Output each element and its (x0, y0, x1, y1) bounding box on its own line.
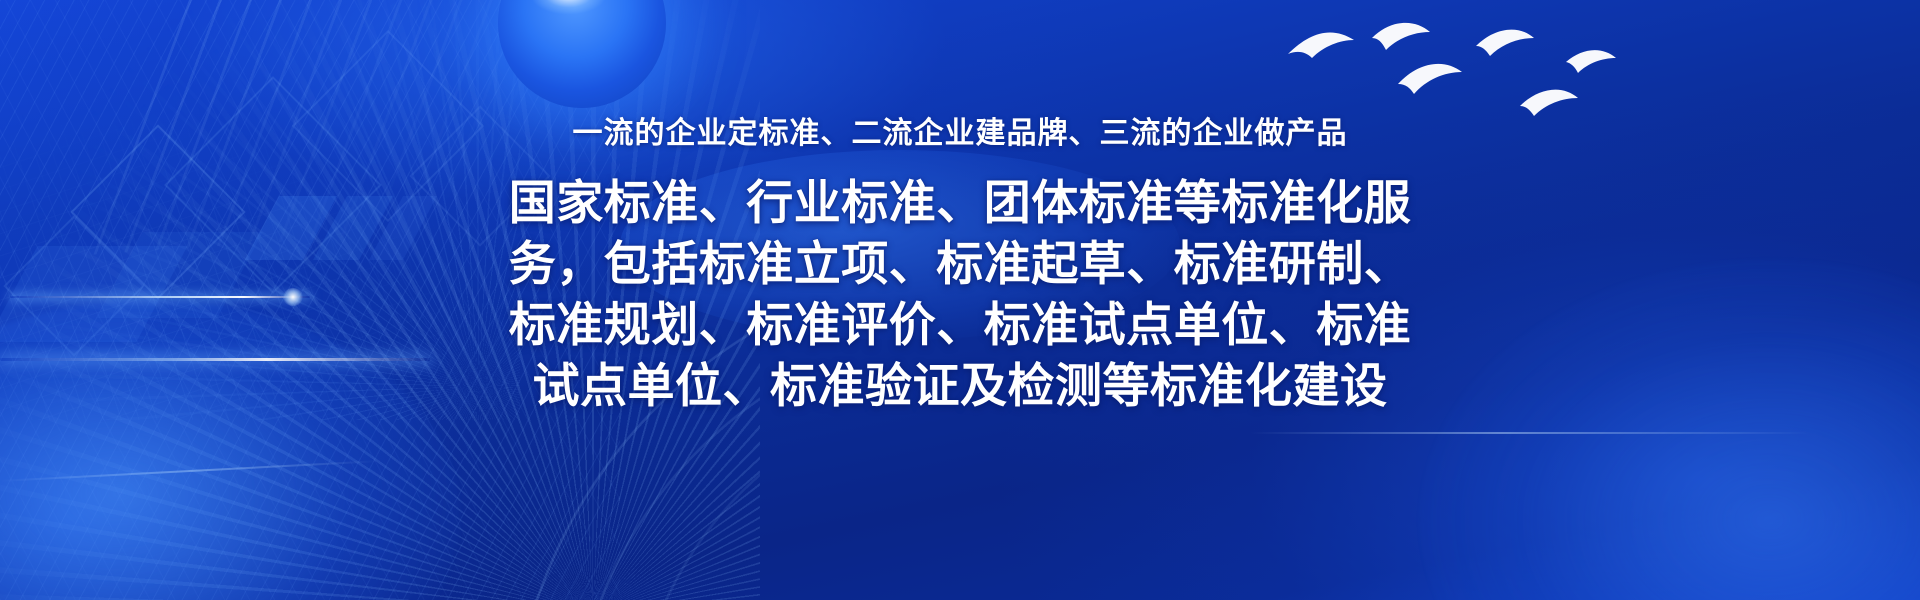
body-line-4: 试点单位、标准验证及检测等标准化建设 (440, 355, 1480, 416)
body-line-1: 国家标准、行业标准、团体标准等标准化服 (440, 172, 1480, 233)
banner-content: 一流的企业定标准、二流企业建品牌、三流的企业做产品 国家标准、行业标准、团体标准… (0, 0, 1920, 600)
body-line-3: 标准规划、标准评价、标准试点单位、标准 (440, 294, 1480, 355)
banner-headline: 一流的企业定标准、二流企业建品牌、三流的企业做产品 (573, 117, 1348, 150)
banner-body: 国家标准、行业标准、团体标准等标准化服 务，包括标准立项、标准起草、标准研制、 … (440, 172, 1480, 416)
body-line-2: 务，包括标准立项、标准起草、标准研制、 (440, 233, 1480, 294)
tech-blue-banner: 一流的企业定标准、二流企业建品牌、三流的企业做产品 国家标准、行业标准、团体标准… (0, 0, 1920, 600)
